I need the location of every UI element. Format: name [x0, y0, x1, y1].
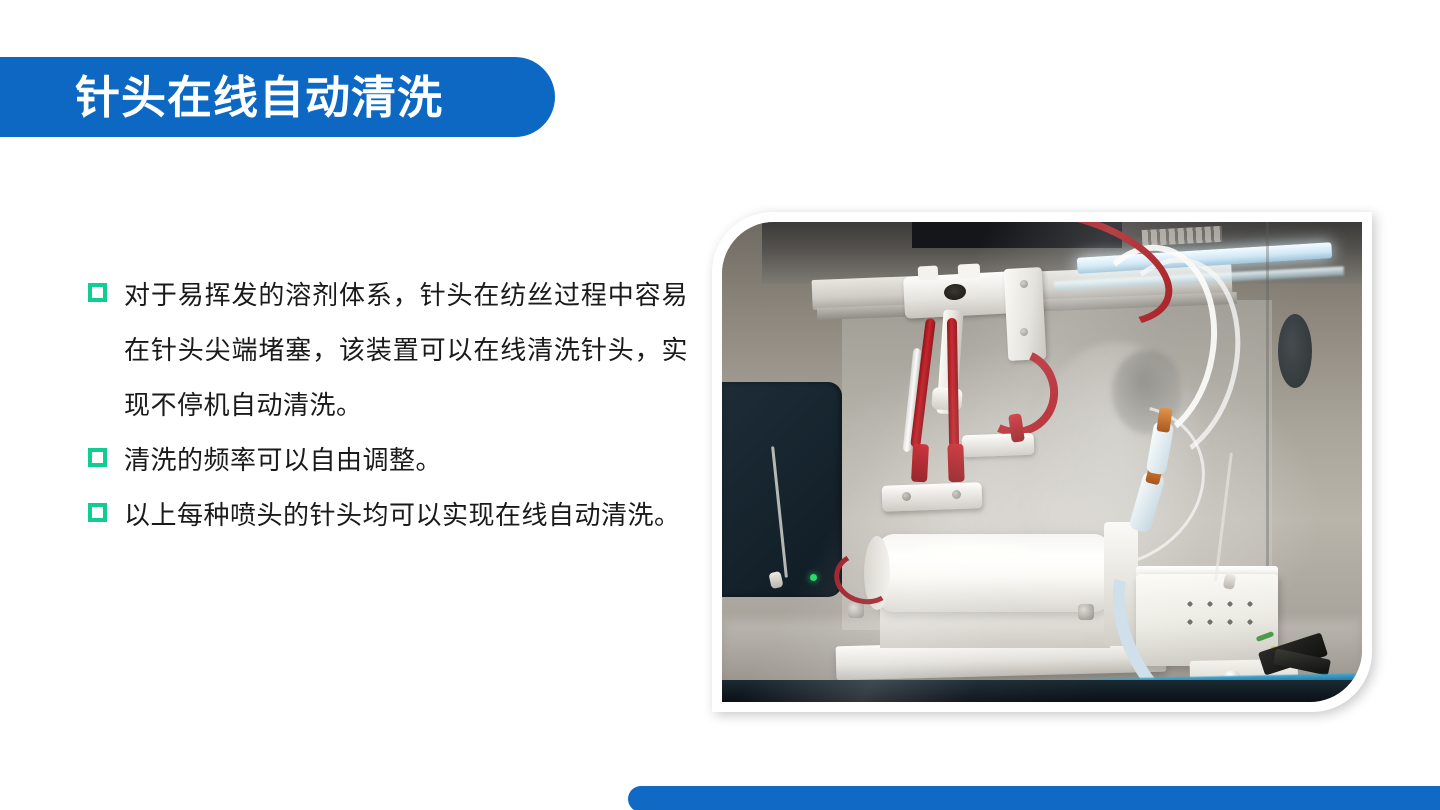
list-item: 以上每种喷头的针头均可以实现在线自动清洗。 — [88, 488, 688, 543]
list-item-text: 以上每种喷头的针头均可以实现在线自动清洗。 — [124, 488, 688, 543]
list-item: 对于易挥发的溶剂体系，针头在纺丝过程中容易在针头尖端堵塞，该装置可以在线清洗针头… — [88, 268, 688, 433]
base-bolt-left — [848, 602, 864, 618]
list-item: 清洗的频率可以自由调整。 — [88, 433, 688, 488]
equipment-photo — [722, 222, 1362, 702]
needle-holder-screw-right — [952, 490, 961, 499]
page-title: 针头在线自动清洗 — [75, 75, 443, 120]
bracket-screw-top — [1020, 280, 1028, 288]
red-needle-tip-right — [947, 444, 964, 483]
spinneret-notch-left — [918, 265, 939, 280]
red-needle-tip-left — [911, 444, 929, 483]
list-item-text: 对于易挥发的溶剂体系，针头在纺丝过程中容易在针头尖端堵塞，该装置可以在线清洗针头… — [124, 268, 688, 433]
photo-frame — [712, 212, 1372, 712]
slide-root: 针头在线自动清洗 对于易挥发的溶剂体系，针头在纺丝过程中容易在针头尖端堵塞，该装… — [0, 0, 1440, 810]
spinneret-notch-right — [958, 263, 981, 278]
needle-holder-bar — [882, 482, 983, 511]
bullet-list: 对于易挥发的溶剂体系，针头在纺丝过程中容易在针头尖端堵塞，该装置可以在线清洗针头… — [88, 268, 688, 543]
chamber-dark-window-panel — [722, 382, 842, 597]
floor-dark-edge — [722, 680, 1362, 702]
bracket-screw-bottom — [1020, 328, 1028, 336]
hollow-square-bullet-icon — [88, 503, 107, 522]
green-status-led — [810, 574, 817, 581]
hollow-square-bullet-icon — [88, 448, 107, 467]
base-bolt-right — [1078, 604, 1094, 620]
wall-port-oval — [1278, 314, 1312, 388]
needle-holder-screw-left — [902, 492, 911, 501]
list-item-text: 清洗的频率可以自由调整。 — [124, 433, 688, 488]
hollow-square-bullet-icon — [88, 283, 107, 302]
collector-drum-highlight — [908, 540, 1038, 566]
footer-accent-bar — [628, 786, 1440, 810]
title-banner: 针头在线自动清洗 — [0, 57, 555, 137]
